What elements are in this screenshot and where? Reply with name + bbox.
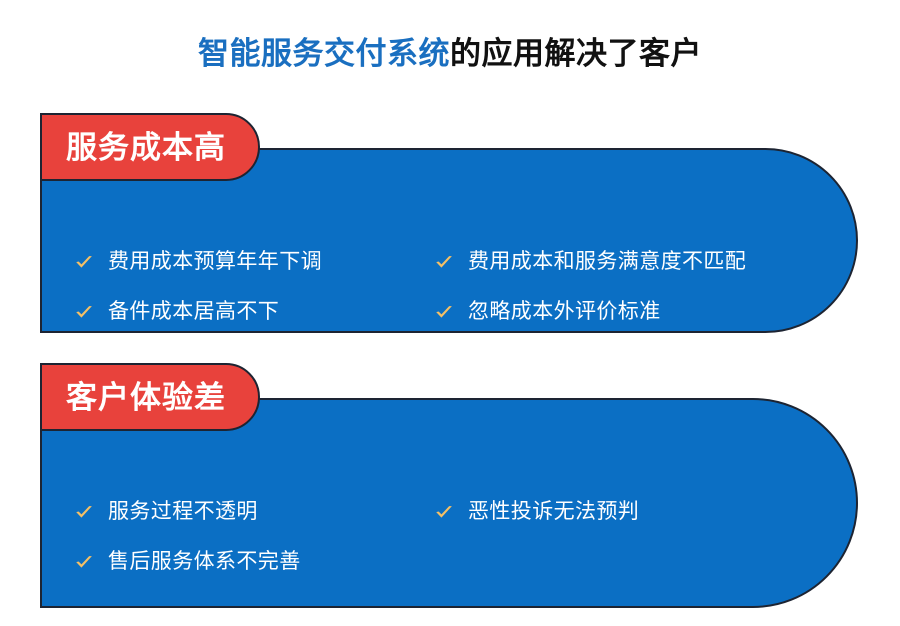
list-item-label: 费用成本预算年年下调 [108,250,322,274]
page-title-highlight: 智能服务交付系统 [198,36,450,71]
page-title-rest: 的应用解决了客户 [450,36,702,71]
check-icon [73,501,95,523]
list-item[interactable]: 费用成本和服务满意度不匹配 [433,250,746,274]
list-item-label: 忽略成本外评价标准 [468,300,661,324]
check-icon [73,551,95,573]
list-item[interactable]: 忽略成本外评价标准 [433,300,661,324]
list-item[interactable]: 售后服务体系不完善 [73,550,301,574]
check-icon [433,251,455,273]
check-icon [433,501,455,523]
section-tag[interactable]: 客户体验差 [40,363,260,431]
check-icon [73,251,95,273]
section-tag-label: 服务成本高 [66,132,226,163]
list-item[interactable]: 服务过程不透明 [73,500,258,524]
slide-canvas: 智能服务交付系统的应用解决了客户 费用成本预算年年下调 备件成本居高不下 [0,0,900,626]
check-icon [433,301,455,323]
list-item-label: 备件成本居高不下 [108,300,279,324]
check-icon [73,301,95,323]
list-item[interactable]: 备件成本居高不下 [73,300,279,324]
page-title: 智能服务交付系统的应用解决了客户 [0,32,900,76]
section-tag[interactable]: 服务成本高 [40,113,260,181]
list-item-label: 服务过程不透明 [108,500,258,524]
list-item[interactable]: 恶性投诉无法预判 [433,500,639,524]
list-item[interactable]: 费用成本预算年年下调 [73,250,322,274]
section-tag-label: 客户体验差 [66,382,226,413]
list-item-label: 费用成本和服务满意度不匹配 [468,250,746,274]
list-item-label: 售后服务体系不完善 [108,550,301,574]
list-item-label: 恶性投诉无法预判 [468,500,639,524]
